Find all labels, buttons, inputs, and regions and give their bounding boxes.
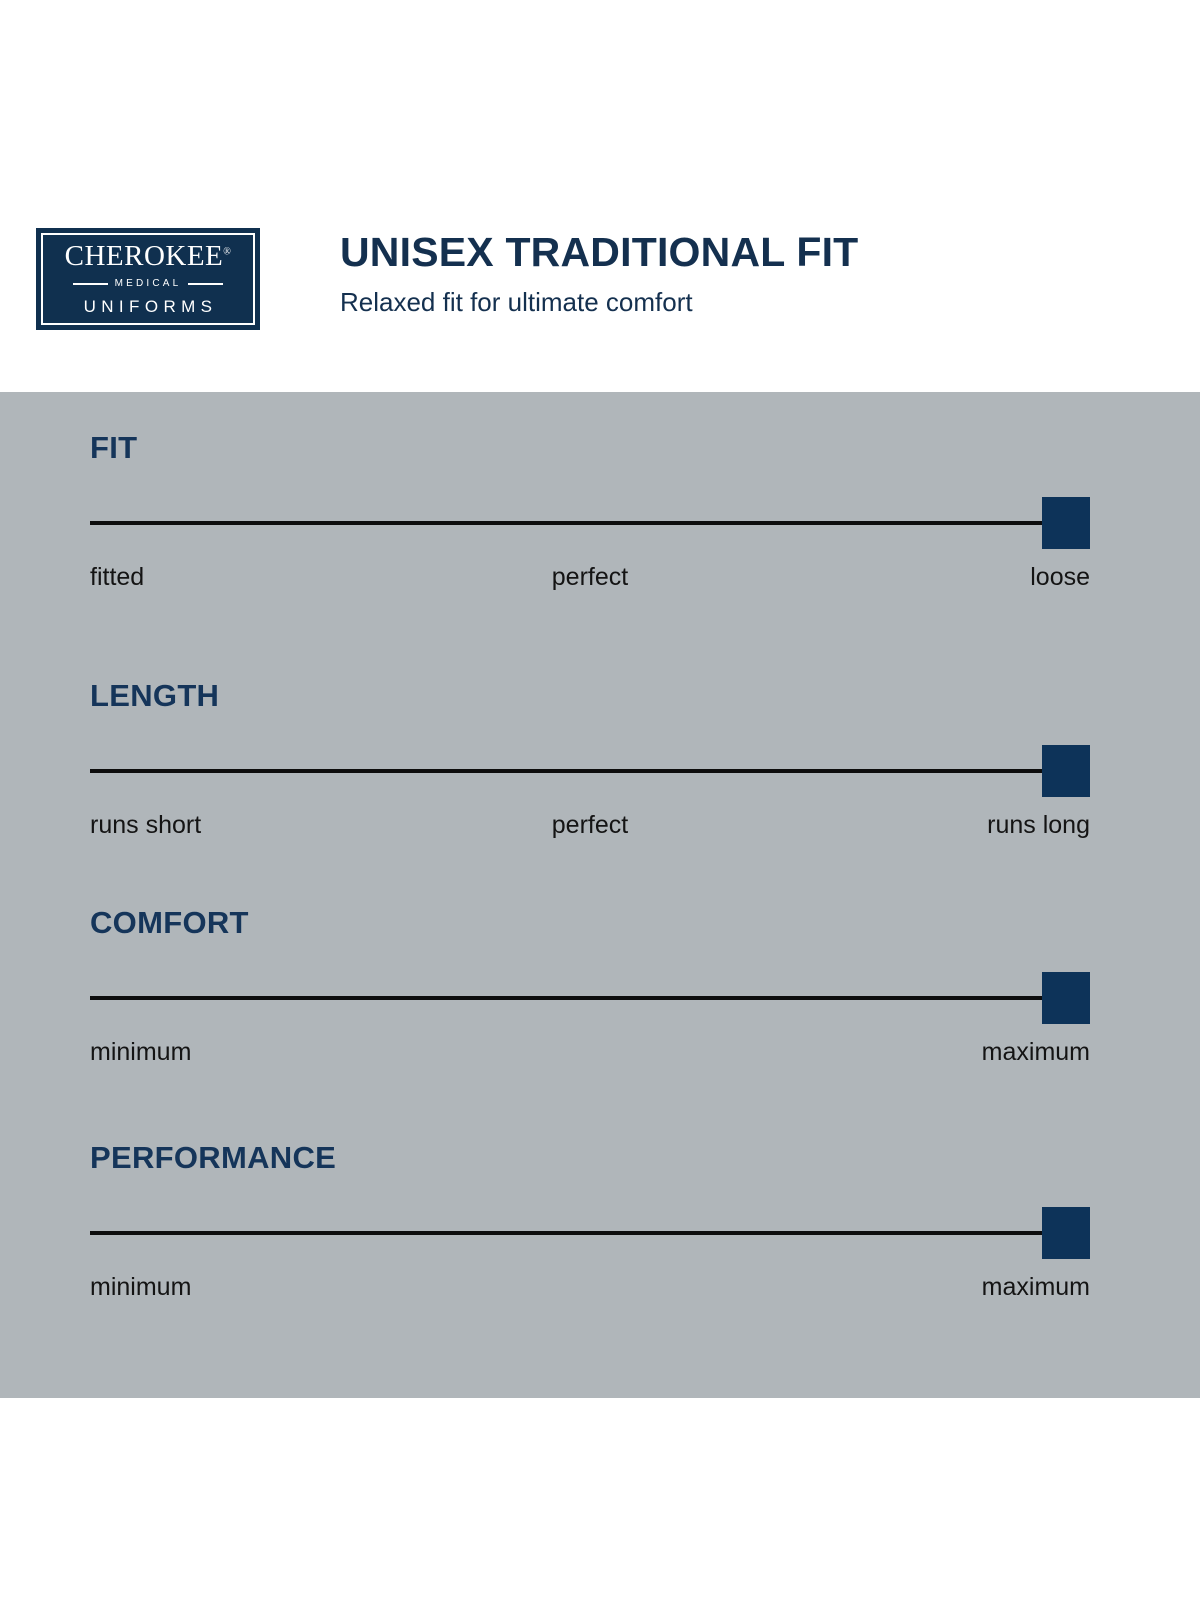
scale-label-end: runs long xyxy=(987,813,1090,838)
scale-labels: minimummaximum xyxy=(90,1275,1090,1309)
scale-track-wrap[interactable] xyxy=(90,745,1090,797)
scale-labels: fittedperfectloose xyxy=(90,565,1090,599)
scale-track[interactable] xyxy=(90,996,1090,1000)
logo-brand-name: CHEROKEE® xyxy=(65,242,232,271)
scale-label-end: loose xyxy=(1030,565,1090,590)
logo-descriptor-row: MEDICAL xyxy=(73,279,223,289)
scale-track-wrap[interactable] xyxy=(90,1207,1090,1259)
scale-labels: minimummaximum xyxy=(90,1040,1090,1074)
logo-rule-left-icon xyxy=(73,283,108,285)
scale-label-start: minimum xyxy=(90,1275,191,1300)
fit-scale-performance: PERFORMANCEminimummaximum xyxy=(90,1142,1090,1309)
fit-scale-length: LENGTHruns shortperfectruns long xyxy=(90,680,1090,847)
scale-track-wrap[interactable] xyxy=(90,497,1090,549)
header-content: CHEROKEE® MEDICAL UNIFORMS UNISEX TRADIT… xyxy=(36,228,858,330)
registered-trademark-icon: ® xyxy=(223,246,231,257)
scale-labels: runs shortperfectruns long xyxy=(90,813,1090,847)
logo-frame: CHEROKEE® MEDICAL UNIFORMS xyxy=(41,233,255,325)
logo-descriptor: MEDICAL xyxy=(115,279,182,289)
scale-track-wrap[interactable] xyxy=(90,972,1090,1024)
scale-label-start: minimum xyxy=(90,1040,191,1065)
page-title: UNISEX TRADITIONAL FIT xyxy=(340,230,858,276)
scale-label-middle: perfect xyxy=(90,813,1090,838)
scale-heading: PERFORMANCE xyxy=(90,1142,1090,1173)
scale-track[interactable] xyxy=(90,1231,1090,1235)
scale-heading: FIT xyxy=(90,432,1090,463)
scale-label-middle: perfect xyxy=(90,565,1090,590)
scale-label-end: maximum xyxy=(982,1040,1090,1065)
title-block: UNISEX TRADITIONAL FIT Relaxed fit for u… xyxy=(340,228,858,318)
scale-heading: COMFORT xyxy=(90,907,1090,938)
page-subtitle: Relaxed fit for ultimate comfort xyxy=(340,287,858,318)
scale-label-end: maximum xyxy=(982,1275,1090,1300)
fit-scale-fit: FITfittedperfectloose xyxy=(90,432,1090,599)
cherokee-logo: CHEROKEE® MEDICAL UNIFORMS xyxy=(36,228,260,330)
scale-marker[interactable] xyxy=(1042,972,1090,1024)
scale-marker[interactable] xyxy=(1042,745,1090,797)
logo-category: UNIFORMS xyxy=(79,298,218,315)
page-header: CHEROKEE® MEDICAL UNIFORMS UNISEX TRADIT… xyxy=(0,0,1200,392)
scale-heading: LENGTH xyxy=(90,680,1090,711)
scale-track[interactable] xyxy=(90,769,1090,773)
logo-rule-right-icon xyxy=(188,283,223,285)
scale-marker[interactable] xyxy=(1042,1207,1090,1259)
fit-scales-panel: FITfittedperfectlooseLENGTHruns shortper… xyxy=(0,392,1200,1398)
logo-brand-text: CHEROKEE xyxy=(65,240,224,272)
scale-track[interactable] xyxy=(90,521,1090,525)
scale-marker[interactable] xyxy=(1042,497,1090,549)
fit-scale-comfort: COMFORTminimummaximum xyxy=(90,907,1090,1074)
